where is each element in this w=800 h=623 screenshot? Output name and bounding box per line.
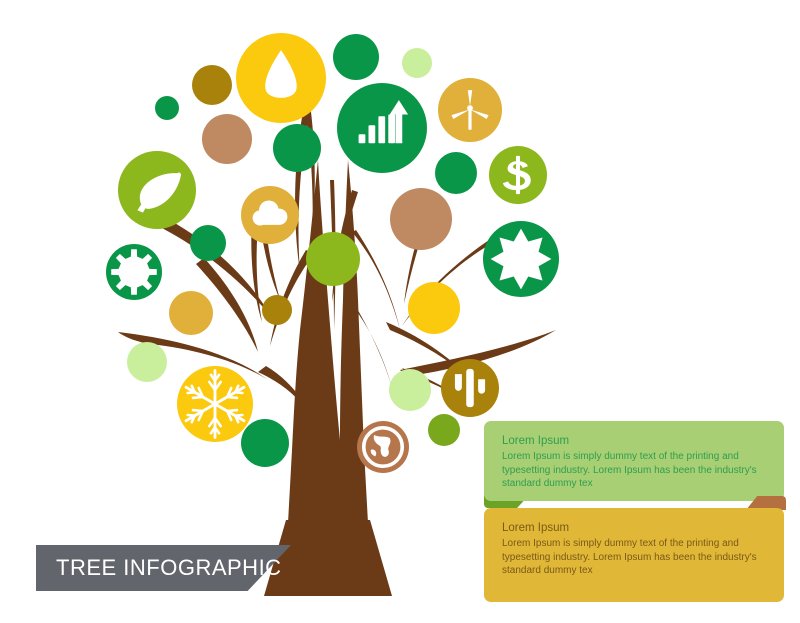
node-circle-dot-green-top[interactable] xyxy=(333,34,379,80)
node-circle-dot-dark-gold-mid[interactable] xyxy=(262,295,292,325)
title-banner: TREE INFOGRAPHIC xyxy=(36,545,291,591)
node-circle-dot-green-bl[interactable] xyxy=(241,419,289,467)
trunk-limb-right xyxy=(352,230,400,330)
node-circle-dot-dark-gold-tl[interactable] xyxy=(192,65,232,105)
node-circle-dot-tan-tl[interactable] xyxy=(202,114,252,164)
callout-green-body: Lorem Ipsum is simply dummy text of the … xyxy=(502,450,766,491)
node-circle-dot-green-l[interactable] xyxy=(190,225,226,261)
node-circle-dot-pale-green-r[interactable] xyxy=(389,369,431,411)
gear-icon xyxy=(111,249,157,295)
callout-gold-body: Lorem Ipsum is simply dummy text of the … xyxy=(502,537,766,578)
node-circle-dot-olive-br[interactable] xyxy=(428,414,460,446)
callout-gold-heading: Lorem Ipsum xyxy=(502,522,766,534)
node-circle-dot-olive-mid[interactable] xyxy=(306,232,360,286)
node-circle-dot-green-mid[interactable] xyxy=(273,124,321,172)
node-circle-dot-yellow-r[interactable] xyxy=(408,282,460,334)
node-circle-dot-gold-l[interactable] xyxy=(169,291,213,335)
infographic-canvas: TREE INFOGRAPHIC Lorem Ipsum Lorem Ipsum… xyxy=(0,0,800,623)
node-circle-dot-pale-green-l[interactable] xyxy=(127,342,167,382)
page-title: TREE INFOGRAPHIC xyxy=(56,545,282,591)
node-circle-dot-pale-green-top[interactable] xyxy=(402,48,432,78)
sun-icon xyxy=(491,229,552,290)
callout-green-heading: Lorem Ipsum xyxy=(502,435,766,447)
callout-green[interactable]: Lorem Ipsum Lorem Ipsum is simply dummy … xyxy=(484,421,784,501)
node-circle-dot-green-small-tl[interactable] xyxy=(155,96,179,120)
node-circle-dot-tan-mid[interactable] xyxy=(390,188,452,250)
callout-gold[interactable]: Lorem Ipsum Lorem Ipsum is simply dummy … xyxy=(484,508,784,602)
node-circle-dot-green-small-r[interactable] xyxy=(435,152,477,194)
